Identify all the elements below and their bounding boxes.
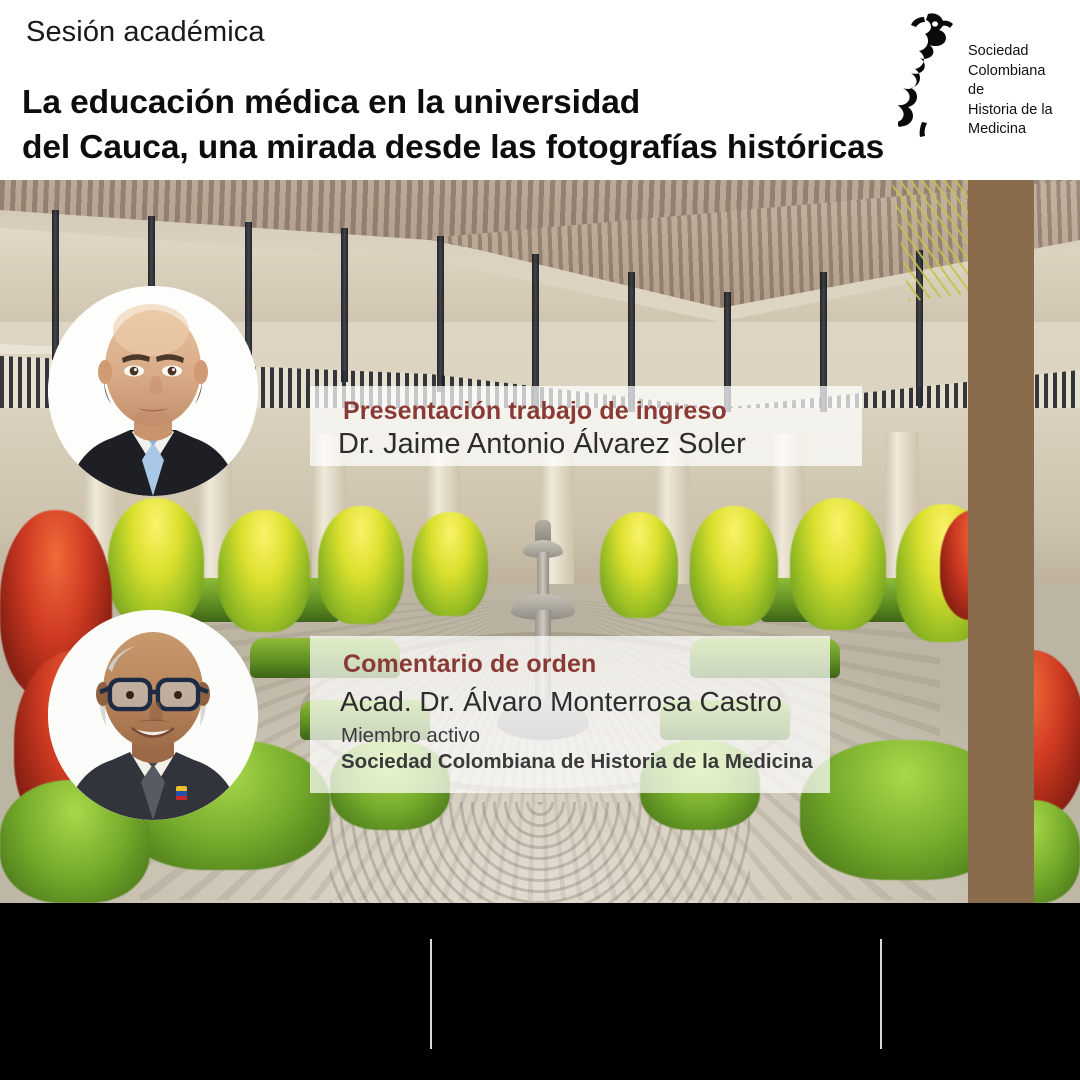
speaker-name-2: Acad. Dr. Álvaro Monterrosa Castro	[340, 686, 782, 718]
speaker-sub-2: Sociedad Colombiana de Historia de la Me…	[341, 750, 813, 774]
yellow-shrub	[412, 512, 488, 616]
fountain-upper-stem	[537, 552, 549, 600]
poster-footer	[0, 903, 1080, 1080]
society-logo-text: Sociedad Colombiana de Historia de la Me…	[968, 42, 1060, 140]
speaker-role-label-1: Presentación trabajo de ingreso	[343, 397, 727, 426]
speaker-sub-1: Miembro activo	[341, 724, 480, 748]
society-logo: Sociedad Colombiana de Historia de la Me…	[890, 10, 1058, 138]
portrait-alvaro-monterrosa	[48, 610, 258, 820]
speaker-panel-presentacion: Presentación trabajo de ingreso Dr. Jaim…	[310, 386, 862, 466]
title-line-2: del Cauca, una mirada desde las fotograf…	[22, 125, 902, 170]
logo-text-line-3: Historia de la	[968, 101, 1060, 121]
title-line-1: La educación médica en la universidad	[22, 80, 902, 125]
speaker-panel-comentario: Comentario de orden Acad. Dr. Álvaro Mon…	[310, 636, 830, 793]
speaker-role-label-2: Comentario de orden	[343, 650, 596, 679]
speaker-name-1: Dr. Jaime Antonio Álvarez Soler	[338, 428, 746, 461]
logo-text-line-2: Colombiana de	[968, 62, 1060, 101]
logo-text-line-1: Sociedad	[968, 42, 1060, 62]
yellow-shrub	[318, 506, 404, 624]
logo-text-line-4: Medicina	[968, 120, 1060, 140]
fountain-finial	[535, 520, 551, 542]
venue-photograph: Presentación trabajo de ingreso Dr. Jaim…	[0, 180, 1080, 903]
poster-header: Sesión académica La educación médica en …	[0, 0, 1080, 180]
event-poster: Sesión académica La educación médica en …	[0, 0, 1080, 1080]
yellow-shrub	[690, 506, 778, 626]
session-kicker: Sesión académica	[26, 16, 265, 49]
footer-divider-1	[430, 939, 432, 1049]
portrait-jaime-alvarez	[48, 286, 258, 496]
poster-title: La educación médica en la universidad de…	[22, 80, 902, 170]
yellow-shrub	[600, 512, 678, 618]
yellow-shrub	[108, 498, 204, 628]
footer-divider-2	[880, 939, 882, 1049]
yellow-shrub	[790, 498, 886, 630]
serpent-staff-icon	[898, 12, 960, 138]
palm-trunk	[968, 180, 1034, 903]
